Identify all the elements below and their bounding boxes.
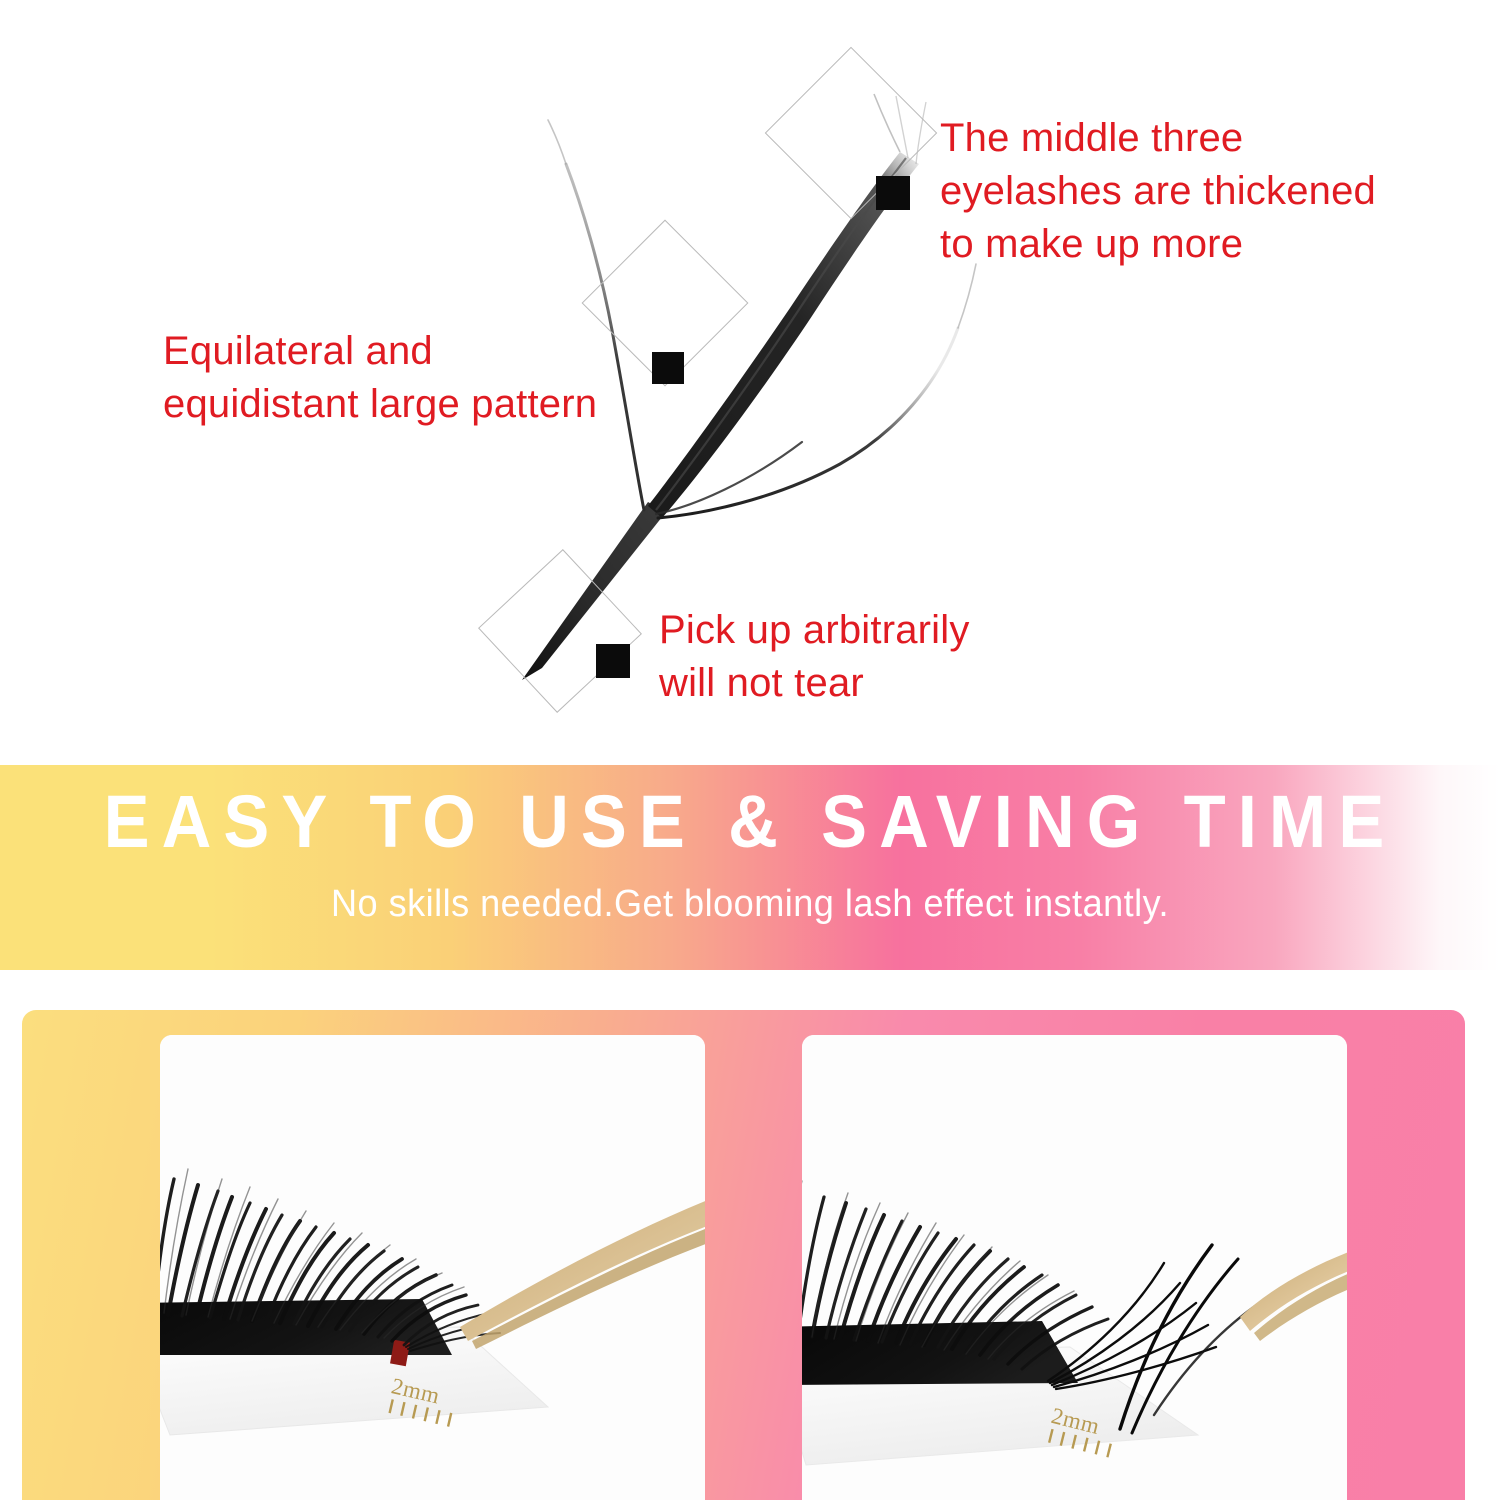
diamond-callout-top-right [776,58,926,208]
feature-banner: EASY TO USE & SAVING TIME No skills need… [0,765,1500,970]
black-square-marker-icon [876,176,910,210]
black-square-marker-icon [596,644,630,678]
diamond-outline-icon [478,549,642,713]
product-photo-card: 2mm [22,1010,1465,1500]
annotation-will-not-tear: Pick up arbitrarily will not tear [659,604,970,710]
diamond-callout-middle [590,228,740,378]
annotation-equilateral-pattern: Equilateral and equidistant large patter… [163,325,597,431]
diamond-outline-icon [765,47,938,220]
banner-title: EASY TO USE & SAVING TIME [53,779,1448,864]
diamond-callout-bottom-left [485,556,635,706]
black-square-marker-icon [652,352,684,384]
photo-panel-lash-strip-with-tweezers: 2mm [160,1035,705,1500]
product-feature-diagram: The middle three eyelashes are thickened… [0,0,1500,757]
photo-panel-lash-fan-lifted: 2mm [802,1035,1347,1500]
banner-subtitle: No skills needed.Get blooming lash effec… [38,883,1463,926]
annotation-thickened-lashes: The middle three eyelashes are thickened… [940,112,1376,270]
